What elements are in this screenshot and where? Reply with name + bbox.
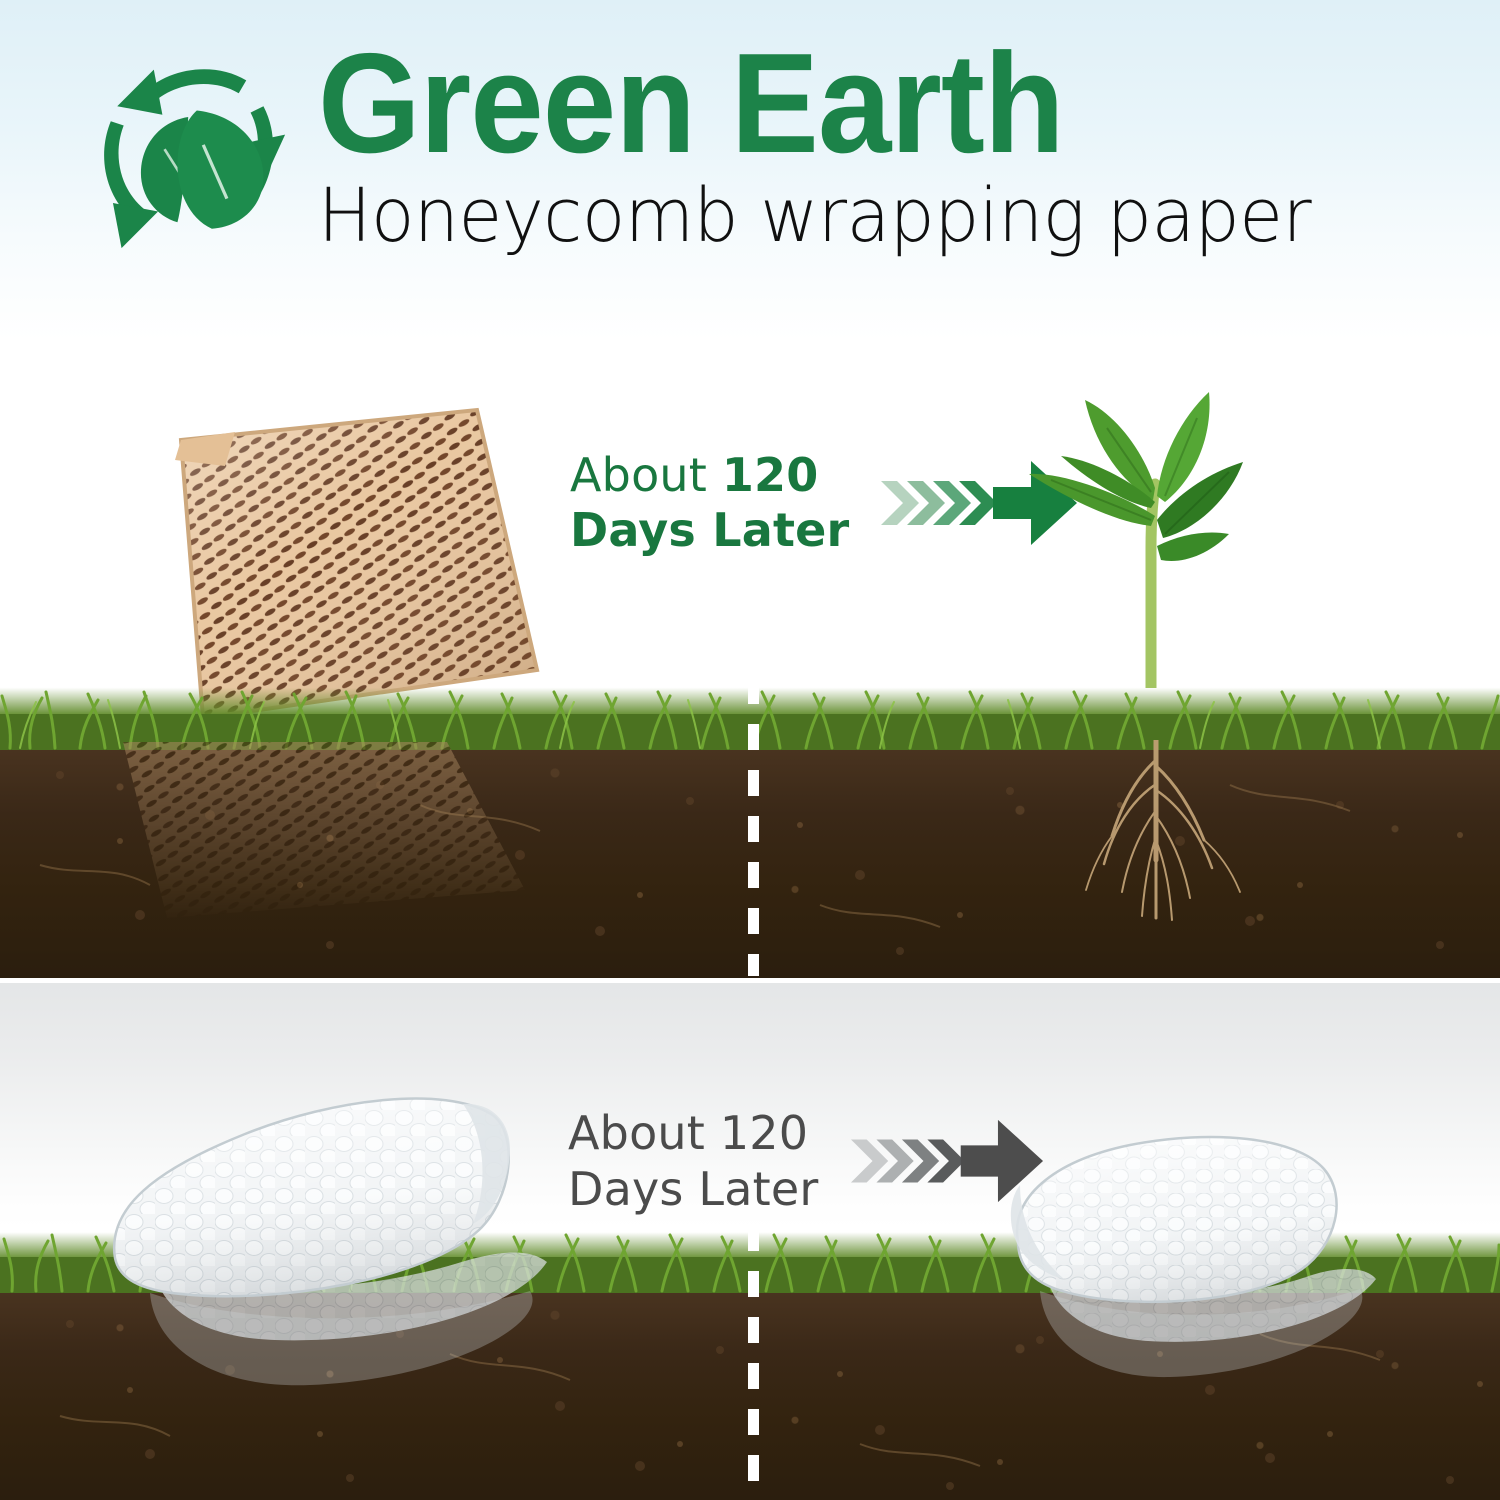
sprout-plant [985, 388, 1325, 688]
honeycomb-paper-buried [95, 740, 555, 925]
caption-line-1: About 120 [568, 1105, 819, 1161]
bubble-wrap-residue-left [110, 1283, 580, 1403]
plant-roots [1070, 740, 1310, 930]
header-banner: Green Earth Honeycomb wrapping paper [0, 0, 1500, 340]
infographic-page: Green Earth Honeycomb wrapping paper [0, 0, 1500, 1500]
bubblewrap-panel: About 120 Days Later [0, 983, 1500, 1500]
bubble-wrap-residue-right [1010, 1283, 1390, 1393]
page-title: Green Earth [318, 34, 1064, 173]
caption-line-2: Days Later [570, 503, 849, 558]
caption-text-green: About 120 Days Later [570, 448, 849, 558]
caption-bubblewrap: About 120 Days Later [568, 1105, 1045, 1217]
dashed-divider-panel2 [748, 1225, 759, 1500]
caption-line-2: Days Later [568, 1161, 819, 1217]
honeycomb-panel: About 120 Days Later [0, 340, 1500, 978]
page-subtitle: Honeycomb wrapping paper [318, 179, 1311, 254]
caption-text-gray: About 120 Days Later [568, 1105, 819, 1217]
caption-line-1: About 120 [570, 448, 849, 503]
recycle-leaf-logo [85, 46, 300, 261]
dashed-divider-panel1 [748, 678, 759, 976]
